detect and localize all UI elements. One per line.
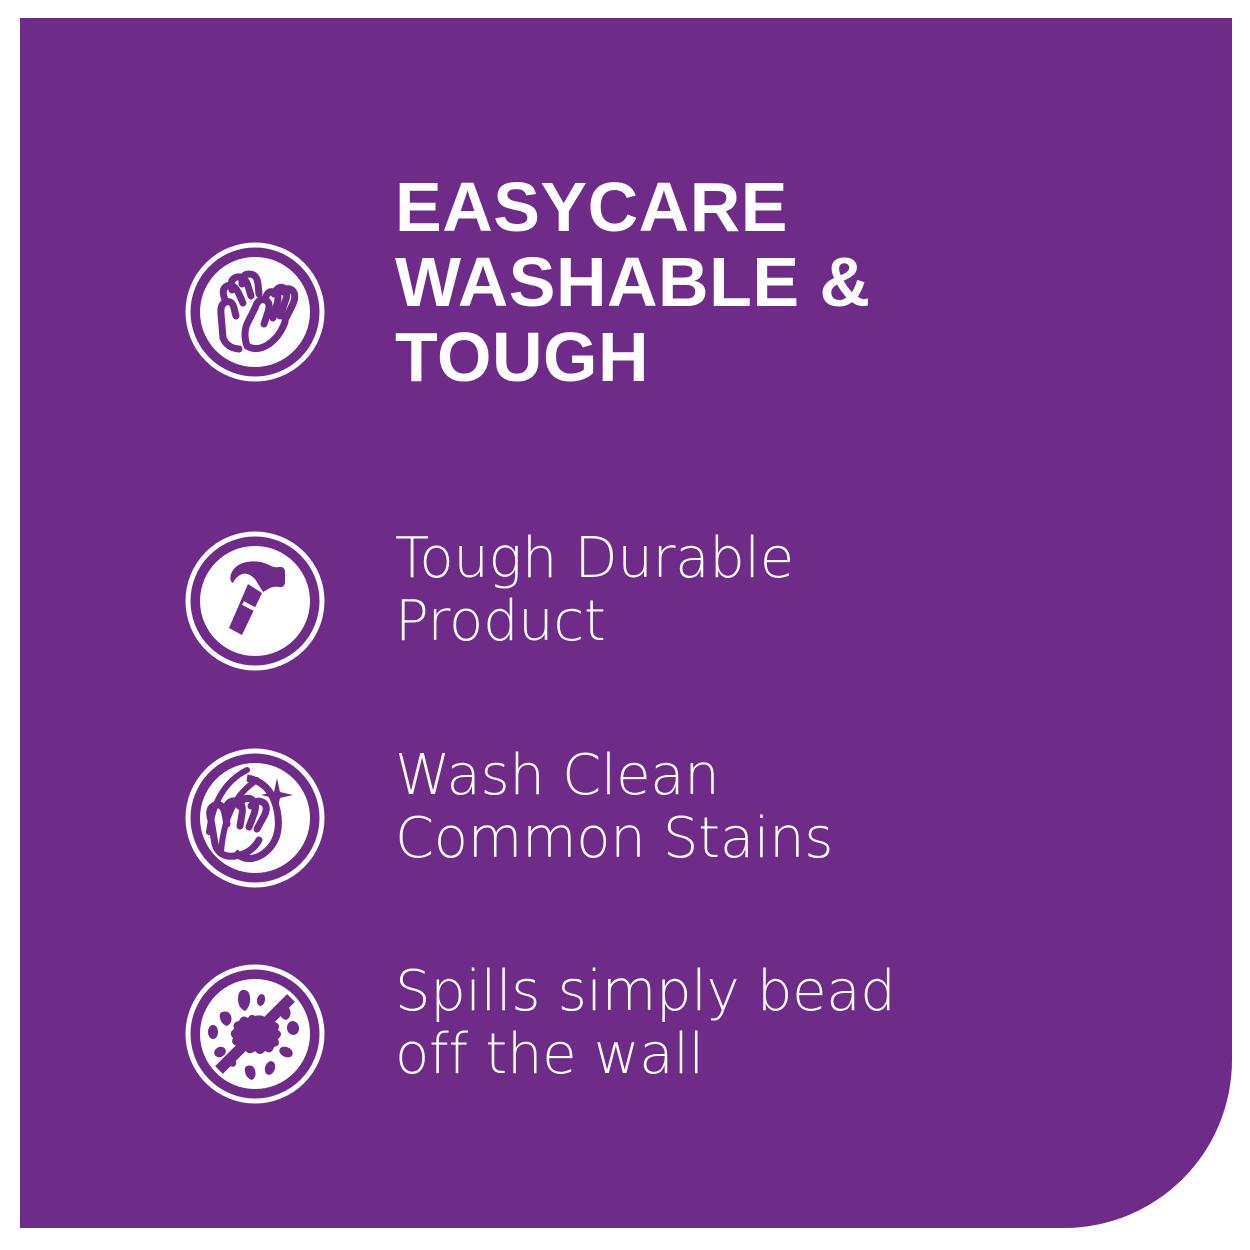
feature-row-tough-durable: Tough Durable Product xyxy=(185,523,1195,671)
feature-label: Wash Clean Common Stains xyxy=(395,744,1195,871)
feature-row-wash-clean: Wash Clean Common Stains xyxy=(185,740,1195,888)
feature-text-tough-durable: Tough Durable Product xyxy=(395,527,1195,654)
purple-panel: EASYCARE WASHABLE & TOUGH Tough Durable … xyxy=(20,18,1232,1228)
washing-hands-icon xyxy=(185,242,325,382)
feature-row-spills-bead: Spills simply bead off the wall xyxy=(185,956,1225,1104)
feature-text-wash-clean: Wash Clean Common Stains xyxy=(395,744,1195,871)
page-title: EASYCARE WASHABLE & TOUGH xyxy=(395,170,1195,395)
feature-label: Tough Durable Product xyxy=(395,527,1195,654)
feature-label: Spills simply bead off the wall xyxy=(395,960,1225,1087)
no-splash-icon xyxy=(185,964,325,1104)
feature-row-headline: EASYCARE WASHABLE & TOUGH xyxy=(185,170,1195,395)
hammer-icon xyxy=(185,531,325,671)
hand-wipe-sparkle-icon xyxy=(185,748,325,888)
feature-text-spills-bead: Spills simply bead off the wall xyxy=(395,960,1225,1087)
headline-text-block: EASYCARE WASHABLE & TOUGH xyxy=(395,170,1195,395)
